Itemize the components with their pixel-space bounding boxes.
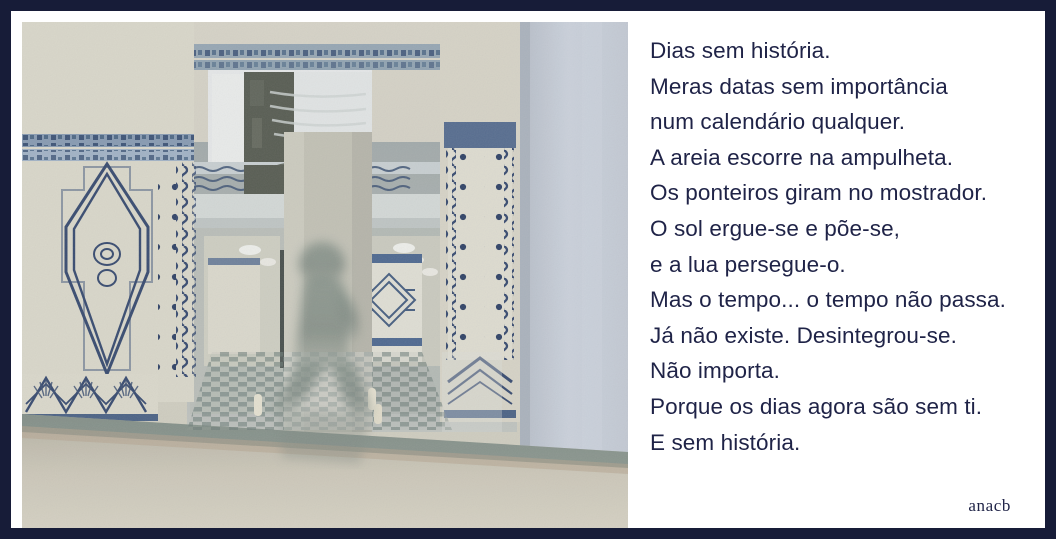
artwork-canvas: Dias sem história. Meras datas sem impor… [11, 11, 1045, 528]
poem-line: Não importa. [650, 353, 1045, 389]
poem-text: Dias sem história. Meras datas sem impor… [650, 33, 1045, 503]
poem-line: E sem história. [650, 425, 1045, 461]
signature: anacb [968, 496, 1011, 516]
poem-line: Mas o tempo... o tempo não passa. [650, 282, 1045, 318]
poem-line: num calendário qualquer. [650, 104, 1045, 140]
poem-line: Porque os dias agora são sem ti. [650, 389, 1045, 425]
poem-line: Os ponteiros giram no mostrador. [650, 175, 1045, 211]
poem-line: Já não existe. Desintegrou-se. [650, 318, 1045, 354]
poem-line: A areia escorre na ampulheta. [650, 140, 1045, 176]
poem-line: Dias sem história. [650, 33, 1045, 69]
photograph [22, 22, 628, 528]
poem-line: e a lua persegue-o. [650, 247, 1045, 283]
poem-line: Meras datas sem importância [650, 69, 1045, 105]
artwork-frame: Dias sem história. Meras datas sem impor… [0, 0, 1056, 539]
photograph-scene [22, 22, 628, 528]
poem-line: O sol ergue-se e põe-se, [650, 211, 1045, 247]
